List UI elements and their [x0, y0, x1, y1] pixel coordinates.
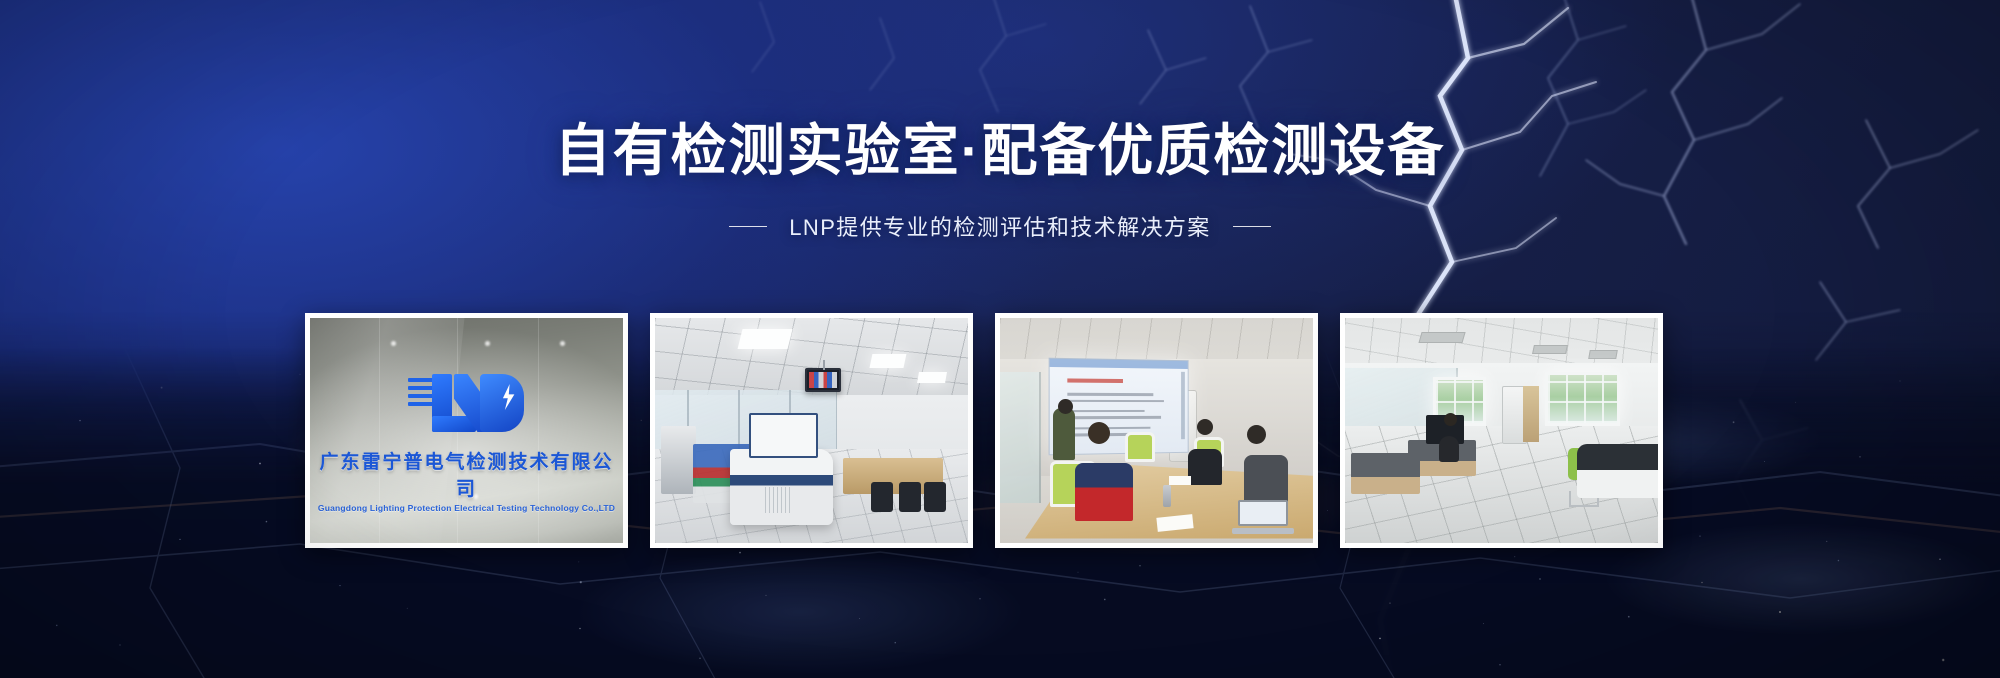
ceiling-light-reflection — [485, 341, 490, 346]
ceiling-air-vent — [1532, 345, 1568, 354]
work-desk — [1351, 453, 1420, 494]
presenter-head — [1058, 399, 1073, 414]
ceiling-panel-light — [737, 329, 792, 349]
ceiling-light-reflection — [560, 341, 565, 346]
green-office-chair — [1125, 432, 1155, 462]
document-papers — [1156, 514, 1193, 532]
seated-attendee-front — [1075, 463, 1133, 521]
office-chair — [924, 482, 946, 512]
worker-head — [1444, 413, 1457, 426]
seated-attendee-mid — [1188, 449, 1222, 485]
document-papers — [1169, 476, 1191, 485]
hero-text-block: 自有检测实验室·配备优质检测设备 LNP提供专业的检测评估和技术解决方案 — [0, 118, 2000, 242]
gallery-item-open-office[interactable] — [1340, 313, 1663, 548]
ceiling-air-vent — [1418, 332, 1465, 343]
company-name-cn: 广东雷宁普电气检测技术有限公司 — [310, 447, 623, 501]
page-subtitle: LNP提供专业的检测评估和技术解决方案 — [789, 210, 1210, 242]
decorative-rule-left-icon — [729, 226, 767, 227]
slide-toolbar — [1050, 358, 1188, 369]
decorative-rule-right-icon — [1233, 226, 1271, 227]
slide-text-line — [1067, 399, 1164, 402]
ceiling-light-reflection — [391, 341, 396, 346]
company-name-en: Guangdong Lighting Protection Electrical… — [310, 503, 623, 513]
reception-counter — [1577, 444, 1658, 498]
slide-text-line — [1067, 409, 1145, 412]
office-window — [1545, 372, 1620, 426]
tv-screen — [809, 372, 837, 388]
frosted-glass-door — [1000, 372, 1041, 503]
laptop-keyboard — [1232, 528, 1294, 534]
photo-company-signage-wall: 广东雷宁普电气检测技术有限公司 Guangdong Lighting Prote… — [310, 318, 623, 543]
company-logo-block: 广东雷宁普电气检测技术有限公司 Guangdong Lighting Prote… — [310, 370, 623, 513]
attendee-head — [1247, 425, 1266, 444]
slide-text-line — [1067, 416, 1161, 419]
hero-banner: 自有检测实验室·配备优质检测设备 LNP提供专业的检测评估和技术解决方案 — [0, 0, 2000, 678]
gallery-item-testing-laboratory[interactable] — [650, 313, 973, 548]
test-apparatus-left — [661, 426, 695, 494]
slide-title-line — [1067, 377, 1123, 382]
logo-bars-icon — [408, 378, 434, 414]
seated-attendee-right — [1244, 455, 1288, 503]
slide-scrollbar — [1181, 371, 1185, 438]
console-monitor — [749, 413, 818, 458]
photo-open-office — [1345, 318, 1658, 543]
attendee-head — [1088, 422, 1110, 444]
lnp-monogram-icon — [406, 370, 528, 436]
slide-text-line — [1067, 393, 1153, 396]
ceiling-panel-light — [870, 354, 907, 368]
presenter-standing — [1053, 408, 1075, 460]
ceiling-panel-light — [917, 372, 947, 383]
photo-testing-laboratory — [655, 318, 968, 543]
tv-mount — [823, 360, 825, 370]
laptop-screen — [1238, 500, 1288, 526]
photo-training-meeting-room — [1000, 318, 1313, 543]
subtitle-row: LNP提供专业的检测评估和技术解决方案 — [0, 210, 2000, 242]
seated-worker — [1439, 436, 1459, 462]
wall-mounted-tv — [805, 368, 841, 392]
page-title: 自有检测实验室·配备优质检测设备 — [0, 118, 2000, 184]
office-chair — [871, 482, 893, 512]
ceiling-air-vent — [1588, 350, 1618, 359]
photo-gallery: 广东雷宁普电气检测技术有限公司 Guangdong Lighting Prote… — [305, 313, 1663, 548]
gallery-item-company-signage-wall[interactable]: 广东雷宁普电气检测技术有限公司 Guangdong Lighting Prote… — [305, 313, 628, 548]
water-bottle — [1163, 485, 1171, 507]
office-chair — [899, 482, 921, 512]
wooden-bookshelf — [1523, 386, 1539, 442]
laptop-computer — [1232, 500, 1294, 534]
logo-letter-p — [480, 374, 524, 432]
control-console — [730, 449, 833, 526]
gallery-item-training-meeting-room[interactable] — [995, 313, 1318, 548]
